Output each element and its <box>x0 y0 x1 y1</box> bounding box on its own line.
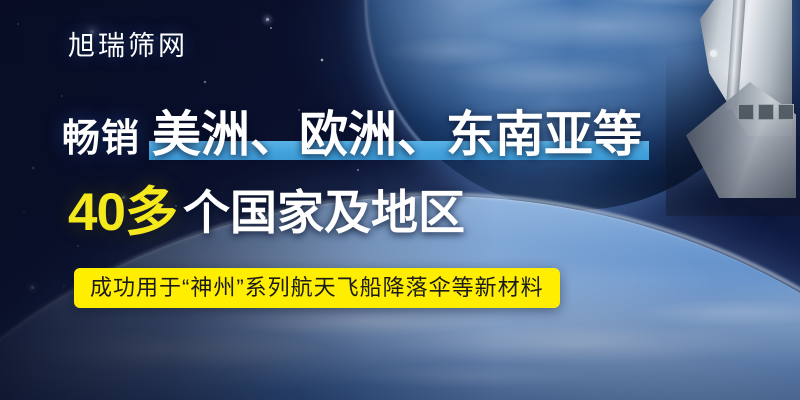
brand-name: 旭瑞筛网 <box>68 33 188 60</box>
achievement-ribbon-text: 成功用于“神州”系列航天飞船降落伞等新材料 <box>90 277 544 299</box>
country-count-label: 个国家及地区 <box>183 189 465 236</box>
headline-highlight-text: 美洲、欧洲、东南亚等 <box>152 108 642 162</box>
country-count-number: 40多 <box>68 186 177 239</box>
headline-line-3: 40多 个国家及地区 <box>68 183 465 241</box>
headline-highlight-group: 美洲、欧洲、东南亚等 <box>149 111 645 162</box>
banner-content: 旭瑞筛网 畅销 美洲、欧洲、东南亚等 40多 个国家及地区 成功用于“神州”系列… <box>0 0 800 400</box>
promo-banner: 旭瑞筛网 畅销 美洲、欧洲、东南亚等 40多 个国家及地区 成功用于“神州”系列… <box>0 0 800 400</box>
headline-line-2: 畅销 美洲、欧洲、东南亚等 <box>62 100 645 162</box>
achievement-ribbon: 成功用于“神州”系列航天飞船降落伞等新材料 <box>74 268 560 308</box>
headline-lead-text: 畅销 <box>62 120 140 162</box>
